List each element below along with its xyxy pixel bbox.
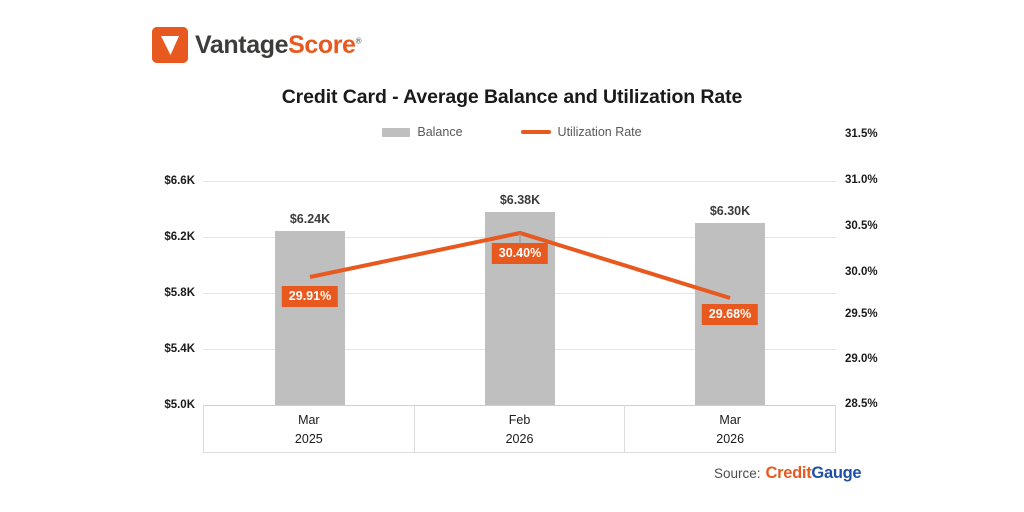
point-label-2[interactable]: 29.68% (702, 304, 758, 325)
x-category-month-1: Feb (509, 414, 531, 427)
vantagescore-logo: VantageScore® (152, 27, 361, 63)
legend-item-balance[interactable]: Balance (382, 125, 462, 139)
x-category-year-1: 2026 (506, 433, 534, 446)
chart-page: VantageScore® Credit Card - Average Bala… (0, 0, 1024, 512)
chart-title: Credit Card - Average Balance and Utiliz… (0, 86, 1024, 109)
x-category-year-0: 2025 (295, 433, 323, 446)
y-left-tick-4: $5.0K (143, 399, 195, 411)
y-right-tick-1: 31.0% (845, 174, 905, 186)
x-axis-category-2[interactable]: Mar 2026 (625, 405, 835, 452)
brand-wordmark: VantageScore® (195, 33, 361, 58)
brand-name-vantage: Vantage (195, 31, 288, 59)
legend-swatch-bar-icon (382, 128, 410, 137)
y-left-tick-3: $5.4K (143, 343, 195, 355)
point-label-1[interactable]: 30.40% (492, 243, 548, 264)
vantagescore-mark-icon (152, 27, 188, 63)
legend-label-utilization-rate: Utilization Rate (558, 125, 642, 139)
point-label-0[interactable]: 29.91% (282, 286, 338, 307)
y-left-tick-2: $5.8K (143, 287, 195, 299)
brand-trademark: ® (356, 36, 362, 45)
source-logo-gauge: Gauge (811, 464, 861, 483)
x-category-month-2: Mar (719, 414, 741, 427)
creditgauge-logo[interactable]: CreditGauge (766, 464, 862, 483)
plot-area: $6.24K $6.38K $6.30K 29.91% 30.40% 29.68… (203, 181, 836, 405)
source-attribution: Source: CreditGauge (714, 464, 861, 483)
legend-label-balance: Balance (417, 125, 462, 139)
source-logo-credit: Credit (766, 464, 812, 483)
y-right-tick-2: 30.5% (845, 220, 905, 232)
y-left-tick-1: $6.2K (143, 231, 195, 243)
legend-item-utilization-rate[interactable]: Utilization Rate (521, 125, 642, 139)
y-right-tick-4: 29.5% (845, 308, 905, 320)
source-label: Source: (714, 466, 761, 481)
legend-swatch-line-icon (521, 130, 551, 134)
x-axis-category-1[interactable]: Feb 2026 (415, 405, 626, 452)
y-right-tick-5: 29.0% (845, 353, 905, 365)
y-right-tick-3: 30.0% (845, 266, 905, 278)
x-axis-category-0[interactable]: Mar 2025 (204, 405, 415, 452)
x-category-month-0: Mar (298, 414, 320, 427)
y-right-tick-6: 28.5% (845, 398, 905, 410)
x-category-year-2: 2026 (716, 433, 744, 446)
brand-name-score: Score (288, 31, 355, 59)
x-axis-categories: Mar 2025 Feb 2026 Mar 2026 (203, 405, 836, 453)
y-right-tick-0: 31.5% (845, 128, 905, 140)
y-left-tick-0: $6.6K (143, 175, 195, 187)
